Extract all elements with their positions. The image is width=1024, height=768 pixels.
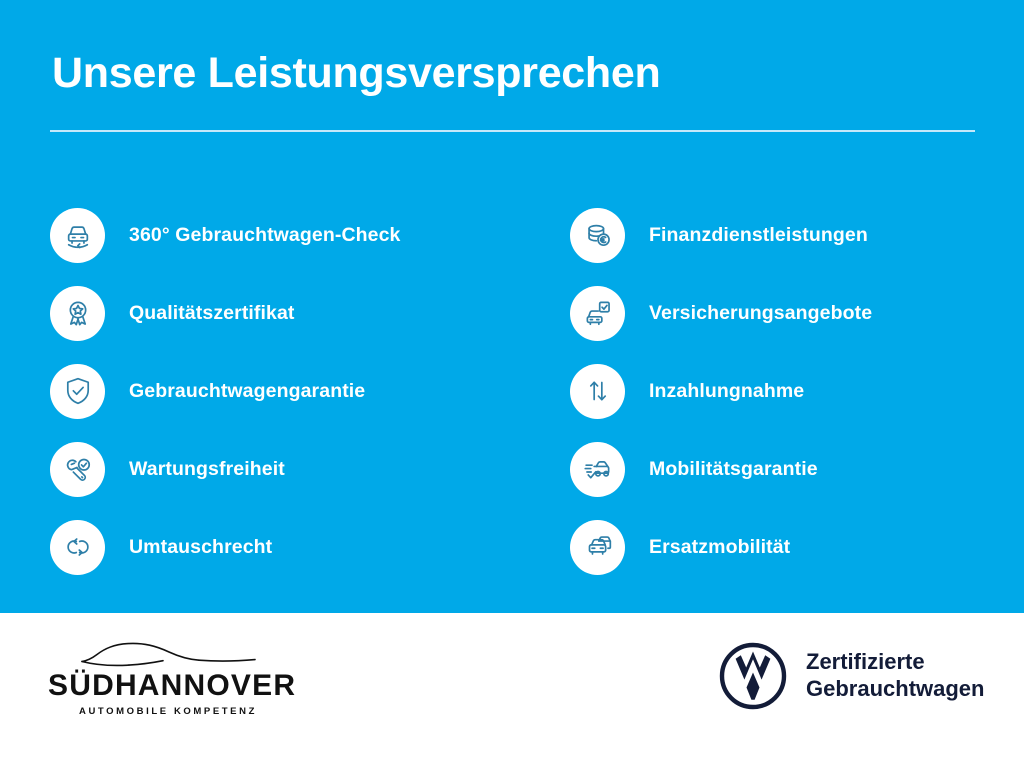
feature-item-gebrauchtwagengarantie[interactable]: Gebrauchtwagengarantie bbox=[50, 352, 512, 430]
feature-label: Mobilitätsgarantie bbox=[649, 458, 818, 481]
up-down-arrows-icon bbox=[570, 364, 625, 419]
feature-item-ersatzmobilitaet[interactable]: Ersatzmobilität bbox=[570, 508, 1024, 586]
volkswagen-roundel-icon bbox=[718, 641, 788, 711]
feature-item-umtauschrecht[interactable]: Umtauschrecht bbox=[50, 508, 512, 586]
feature-label: Versicherungsangebote bbox=[649, 302, 872, 325]
features-grid: 360° Gebrauchtwagen-Check Qualitätszerti… bbox=[0, 196, 1024, 586]
feature-item-mobilitaetsgarantie[interactable]: Mobilitätsgarantie bbox=[570, 430, 1024, 508]
vw-certified-logo: Zertifizierte Gebrauchtwagen bbox=[718, 641, 984, 711]
coins-euro-icon bbox=[570, 208, 625, 263]
two-cars-icon bbox=[570, 520, 625, 575]
vw-certified-line1: Zertifizierte bbox=[806, 649, 984, 676]
feature-label: Ersatzmobilität bbox=[649, 536, 790, 559]
feature-item-wartungsfreiheit[interactable]: Wartungsfreiheit bbox=[50, 430, 512, 508]
feature-label: Qualitätszertifikat bbox=[129, 302, 295, 325]
exchange-arrows-icon bbox=[50, 520, 105, 575]
features-right-column: Finanzdienstleistungen bbox=[512, 196, 1024, 586]
promise-panel-page: Unsere Leistungsversprechen bbox=[0, 0, 1024, 768]
feature-label: 360° Gebrauchtwagen-Check bbox=[129, 224, 400, 247]
dealer-logo: SÜDHANNOVER AUTOMOBILE KOMPETENZ bbox=[48, 641, 288, 717]
award-rosette-icon bbox=[50, 286, 105, 341]
footer-bar: SÜDHANNOVER AUTOMOBILE KOMPETENZ Zertifi… bbox=[0, 613, 1024, 768]
feature-item-inzahlungnahme[interactable]: Inzahlungnahme bbox=[570, 352, 1024, 430]
title-divider bbox=[50, 130, 975, 132]
dealer-tagline: AUTOMOBILE KOMPETENZ bbox=[48, 706, 288, 717]
feature-label: Umtauschrecht bbox=[129, 536, 272, 559]
feature-label: Gebrauchtwagengarantie bbox=[129, 380, 365, 403]
feature-item-versicherungsangebote[interactable]: Versicherungsangebote bbox=[570, 274, 1024, 352]
car-speed-check-icon bbox=[570, 442, 625, 497]
vw-certified-line2: Gebrauchtwagen bbox=[806, 676, 984, 703]
feature-item-gebrauchtwagen-check[interactable]: 360° Gebrauchtwagen-Check bbox=[50, 196, 512, 274]
page-title: Unsere Leistungsversprechen bbox=[52, 50, 660, 97]
wrench-check-icon bbox=[50, 442, 105, 497]
vw-certified-text: Zertifizierte Gebrauchtwagen bbox=[806, 649, 984, 703]
car-silhouette-icon bbox=[76, 641, 261, 669]
hero-panel: Unsere Leistungsversprechen bbox=[0, 0, 1024, 613]
feature-label: Finanzdienstleistungen bbox=[649, 224, 868, 247]
feature-item-finanzdienstleistungen[interactable]: Finanzdienstleistungen bbox=[570, 196, 1024, 274]
feature-label: Inzahlungnahme bbox=[649, 380, 804, 403]
feature-label: Wartungsfreiheit bbox=[129, 458, 285, 481]
dealer-name: SÜDHANNOVER bbox=[48, 671, 288, 701]
car-insurance-check-icon bbox=[570, 286, 625, 341]
car-360-check-icon bbox=[50, 208, 105, 263]
feature-item-qualitaetszertifikat[interactable]: Qualitätszertifikat bbox=[50, 274, 512, 352]
shield-check-icon bbox=[50, 364, 105, 419]
features-left-column: 360° Gebrauchtwagen-Check Qualitätszerti… bbox=[0, 196, 512, 586]
